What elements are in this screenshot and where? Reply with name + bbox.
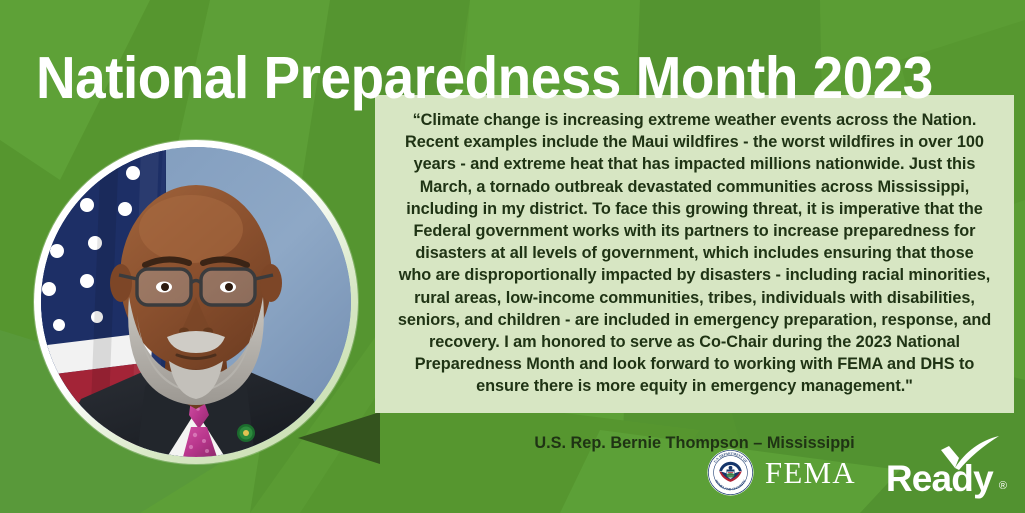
fema-logo[interactable]: U.S. DEPARTMENT OF HOMELAND SECURITY FEM…	[707, 449, 856, 496]
page-title: National Preparedness Month 2023	[36, 45, 933, 111]
quote-attribution: U.S. Rep. Bernie Thompson – Mississippi	[534, 398, 854, 454]
registered-trademark-icon: ®	[999, 481, 1007, 497]
quote-box: “Climate change is increasing extreme we…	[375, 95, 1014, 413]
dhs-seal-icon: U.S. DEPARTMENT OF HOMELAND SECURITY	[707, 449, 754, 496]
poster-canvas: National Preparedness Month 2023	[0, 0, 1025, 513]
portrait-photo	[41, 147, 351, 457]
ready-checkmark-icon	[939, 436, 1001, 472]
portrait	[34, 140, 358, 464]
quote-text: “Climate change is increasing extreme we…	[397, 109, 992, 398]
fema-wordmark: FEMA	[765, 457, 856, 488]
logo-row: U.S. DEPARTMENT OF HOMELAND SECURITY FEM…	[707, 448, 1007, 497]
ready-logo[interactable]: Ready ®	[886, 448, 1007, 497]
